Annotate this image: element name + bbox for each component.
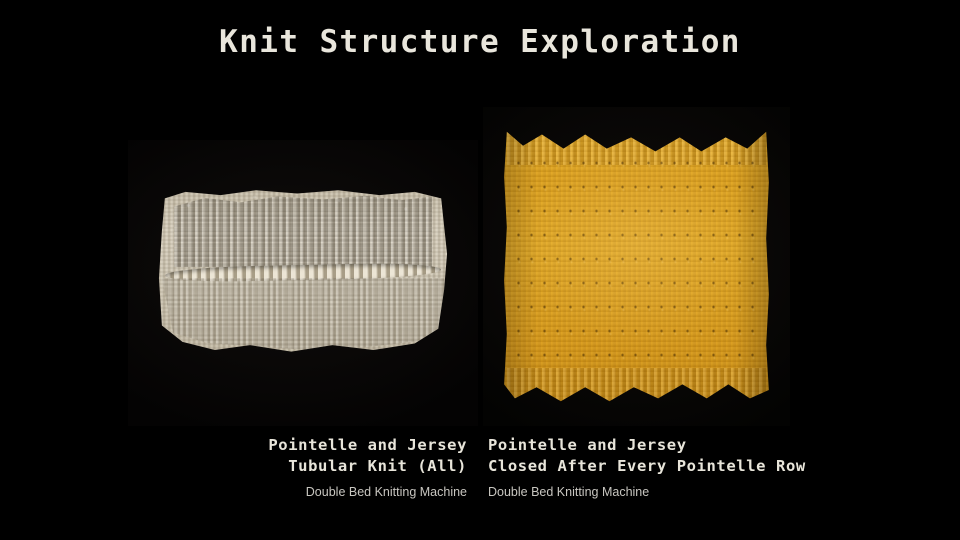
caption-left-line-2: Tubular Knit (All) xyxy=(268,456,467,477)
figure-image-left xyxy=(128,140,478,426)
cream-jersey-band xyxy=(162,278,444,350)
caption-right-line-2: Closed After Every Pointelle Row xyxy=(488,456,806,477)
figure-caption-right: Pointelle and Jersey Closed After Every … xyxy=(488,435,806,499)
cream-swatch-body xyxy=(156,189,450,352)
cream-pointelle-band xyxy=(174,195,433,267)
figure-caption-left: Pointelle and Jersey Tubular Knit (All) … xyxy=(268,435,467,499)
gold-rib-band-bottom xyxy=(507,368,766,404)
gold-pointelle-holes xyxy=(512,151,761,376)
gold-knit-swatch xyxy=(501,126,771,407)
caption-right-subtitle: Double Bed Knitting Machine xyxy=(488,485,806,499)
slide-canvas: Knit Structure Exploration Pointe xyxy=(0,0,960,540)
figure-image-right xyxy=(483,107,790,426)
caption-right-line-1: Pointelle and Jersey xyxy=(488,435,806,456)
gold-swatch-body xyxy=(501,126,771,407)
caption-left-line-1: Pointelle and Jersey xyxy=(268,435,467,456)
caption-left-subtitle: Double Bed Knitting Machine xyxy=(268,485,467,499)
cream-knit-swatch xyxy=(156,189,450,352)
page-title: Knit Structure Exploration xyxy=(0,24,960,60)
